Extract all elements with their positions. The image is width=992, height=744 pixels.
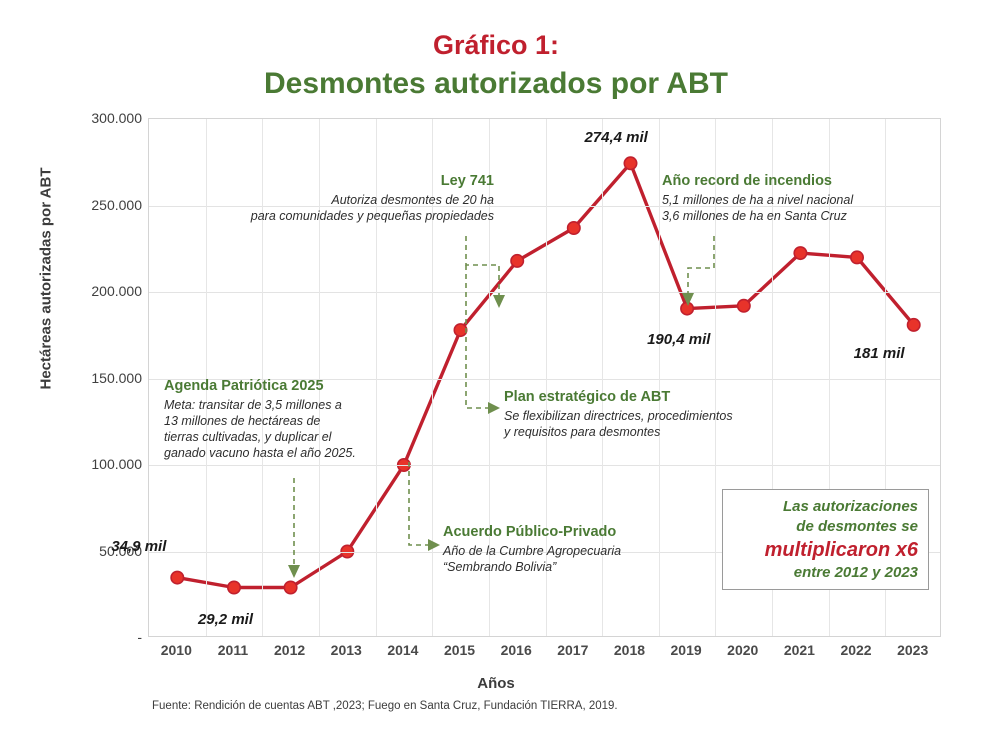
annotation-ley741-heading: Ley 741 [186, 173, 494, 189]
x-axis-tick-label: 2021 [769, 642, 829, 658]
data-point-marker [794, 247, 806, 259]
x-axis-tick-label: 2016 [486, 642, 546, 658]
annotation-acuerdo-line1: Año de la Cumbre Agropecuaria [443, 543, 621, 559]
annotation-agenda-line1: Meta: transitar de 3,5 millones a [164, 397, 356, 413]
data-point-label: 190,4 mil [647, 331, 710, 348]
annotation-plan-line1: Se flexibilizan directrices, procedimien… [504, 408, 733, 424]
x-axis-tick-label: 2019 [656, 642, 716, 658]
x-axis-tick-label: 2018 [599, 642, 659, 658]
callout-line3-highlight: multiplicaron x6 [723, 537, 918, 563]
y-axis-tick-label: 150.000 [56, 370, 142, 386]
data-point-label: 181 mil [854, 345, 905, 362]
annotation-incendios-line1: 5,1 millones de ha a nivel nacional [662, 192, 853, 208]
callout-line2: de desmontes se [723, 517, 918, 537]
gridline-horizontal [149, 465, 940, 466]
annotation-incendios-heading: Año record de incendios [662, 173, 853, 189]
source-note: Fuente: Rendición de cuentas ABT ,2023; … [152, 700, 618, 712]
annotation-agenda-patriotica-2025: Agenda Patriótica 2025 Meta: transitar d… [164, 378, 356, 461]
data-point-label: 29,2 mil [198, 611, 253, 628]
annotation-agenda-line4: ganado vacuno hasta el año 2025. [164, 445, 356, 461]
chart-title-line2: Desmontes autorizados por ABT [0, 64, 992, 104]
annotation-acuerdo-line2: “Sembrando Bolivia” [443, 559, 621, 575]
y-axis-tick-label: - [56, 629, 142, 645]
annotation-agenda-heading: Agenda Patriótica 2025 [164, 378, 356, 394]
data-point-marker [284, 581, 296, 593]
data-point-marker [454, 324, 466, 336]
data-point-marker [681, 302, 693, 314]
x-axis-tick-label: 2011 [203, 642, 263, 658]
y-axis-tick-label: 200.000 [56, 283, 142, 299]
x-axis-tick-label: 2015 [430, 642, 490, 658]
x-axis-tick-label: 2017 [543, 642, 603, 658]
annotation-ley741-line1: Autoriza desmontes de 20 ha [186, 192, 494, 208]
gridline-horizontal [149, 292, 940, 293]
y-axis-tick-label: 300.000 [56, 110, 142, 126]
x-axis-tick-label: 2012 [260, 642, 320, 658]
x-axis-title: Años [0, 675, 992, 692]
y-axis-tick-label: 250.000 [56, 197, 142, 213]
annotation-acuerdo-heading: Acuerdo Público-Privado [443, 524, 621, 540]
annotation-ley741-line2: para comunidades y pequeñas propiedades [186, 208, 494, 224]
annotation-ley-741: Ley 741 Autoriza desmontes de 20 ha para… [186, 173, 494, 224]
data-point-label: 274,4 mil [584, 129, 647, 146]
annotation-agenda-line3: tierras cultivadas, y duplicar el [164, 429, 356, 445]
data-point-marker [228, 581, 240, 593]
y-axis-tick-labels: -50.000100.000150.000200.000250.000300.0… [50, 118, 142, 637]
data-point-marker [171, 571, 183, 583]
annotation-acuerdo-publico-privado: Acuerdo Público-Privado Año de la Cumbre… [443, 524, 621, 575]
x-axis-tick-label: 2022 [826, 642, 886, 658]
data-point-marker [851, 251, 863, 263]
annotation-ano-record-incendios: Año record de incendios 5,1 millones de … [662, 173, 853, 224]
callout-line4: entre 2012 y 2023 [723, 563, 918, 583]
data-point-marker [908, 319, 920, 331]
x-axis-tick-label: 2020 [713, 642, 773, 658]
data-point-marker [568, 222, 580, 234]
x-axis-tick-label: 2023 [883, 642, 943, 658]
chart-title-block: Gráfico 1: Desmontes autorizados por ABT [0, 28, 992, 104]
data-point-marker [511, 255, 523, 267]
y-axis-tick-label: 100.000 [56, 456, 142, 472]
data-point-marker [738, 300, 750, 312]
annotation-agenda-line2: 13 millones de hectáreas de [164, 413, 356, 429]
chart-title-line1: Gráfico 1: [0, 28, 992, 62]
callout-line1: Las autorizaciones [723, 497, 918, 517]
x-axis-tick-labels: 2010201120122013201420152016201720182019… [148, 642, 941, 666]
gridline-vertical [659, 119, 660, 636]
callout-box: Las autorizaciones de desmontes se multi… [722, 489, 929, 590]
annotation-plan-estrategico-abt: Plan estratégico de ABT Se flexibilizan … [504, 389, 733, 440]
x-axis-tick-label: 2010 [146, 642, 206, 658]
data-point-marker [624, 157, 636, 169]
x-axis-tick-label: 2013 [316, 642, 376, 658]
annotation-plan-line2: y requisitos para desmontes [504, 424, 733, 440]
annotation-plan-heading: Plan estratégico de ABT [504, 389, 733, 405]
data-point-label: 34,9 mil [111, 538, 166, 555]
annotation-incendios-line2: 3,6 millones de ha en Santa Cruz [662, 208, 853, 224]
x-axis-tick-label: 2014 [373, 642, 433, 658]
